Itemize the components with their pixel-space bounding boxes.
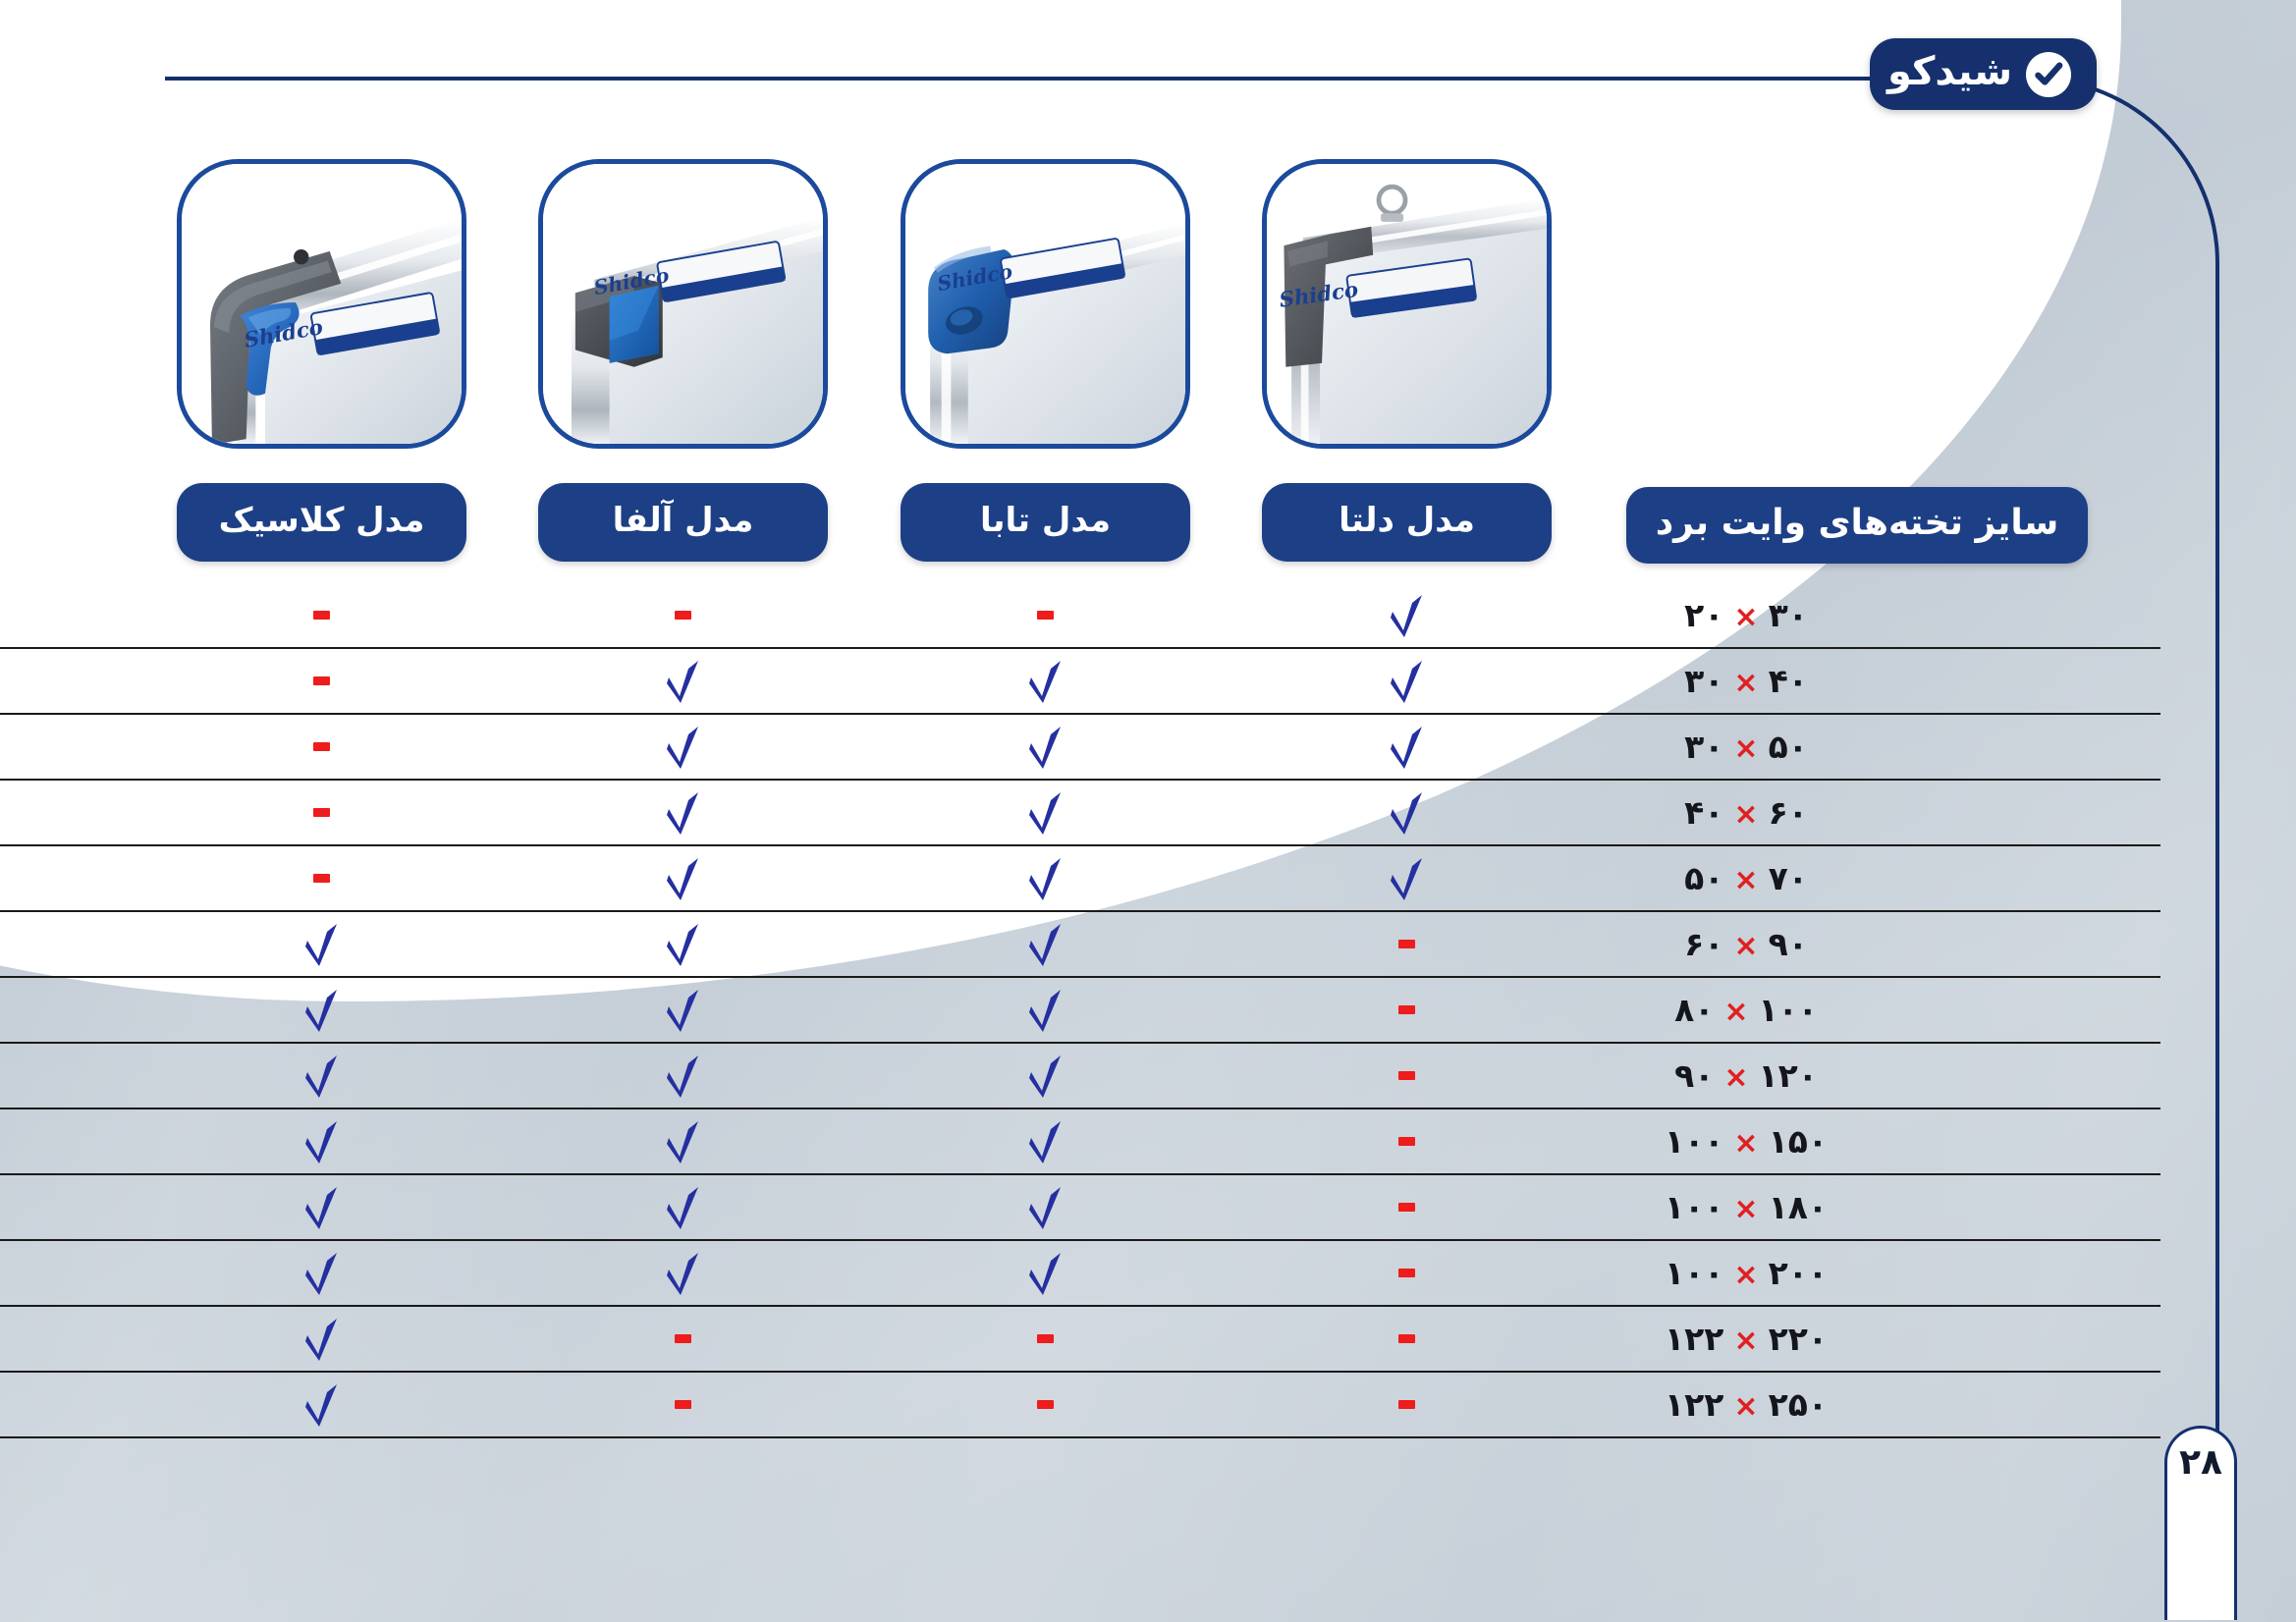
cell-delta-۸۰x۱۰۰ <box>1262 977 1552 1043</box>
table-row: ۷۰×۵۰ <box>0 846 2160 912</box>
cell-alfa-۱۲۲x۲۲۰ <box>538 1306 828 1372</box>
brand-logo-text: شیدکو <box>1887 52 2012 96</box>
product-thumbnail-delta[interactable]: Shidco <box>1262 159 1552 449</box>
cell-taba-۱۰۰x۱۵۰ <box>901 1108 1190 1174</box>
cell-size: ۲۲۰×۱۲۲ <box>1540 1320 1952 1358</box>
cell-alfa-۶۰x۹۰ <box>538 911 828 977</box>
comparison-table: ۳۰×۲۰۴۰×۳۰۵۰×۳۰۶۰×۴۰۷۰×۵۰۹۰×۶۰۱۰۰×۸۰۱۲۰×… <box>0 583 2160 1438</box>
cell-size: ۹۰×۶۰ <box>1540 925 1952 963</box>
table-row: ۴۰×۳۰ <box>0 649 2160 715</box>
cell-taba-۱۰۰x۲۰۰ <box>901 1240 1190 1306</box>
cell-size: ۲۰۰×۱۰۰ <box>1540 1254 1952 1292</box>
cell-alfa-۱۰۰x۱۸۰ <box>538 1174 828 1240</box>
table-row: ۱۵۰×۱۰۰ <box>0 1109 2160 1175</box>
cell-size: ۱۸۰×۱۰۰ <box>1540 1188 1952 1226</box>
model-label-alfa-text: مدل آلفا <box>613 504 754 541</box>
size-column-header-text: سایز تخته‌های وایت برد <box>1656 506 2059 545</box>
cell-classic-۱۰۰x۲۰۰ <box>177 1240 466 1306</box>
cell-classic-۱۲۲x۲۲۰ <box>177 1306 466 1372</box>
cell-taba-۴۰x۶۰ <box>901 780 1190 845</box>
product-thumbnail-taba[interactable]: Shidco <box>901 159 1190 449</box>
table-row: ۳۰×۲۰ <box>0 583 2160 649</box>
cell-classic-۱۰۰x۱۵۰ <box>177 1108 466 1174</box>
cell-classic-۹۰x۱۲۰ <box>177 1043 466 1108</box>
cell-classic-۳۰x۵۰ <box>177 714 466 780</box>
cell-size: ۲۵۰×۱۲۲ <box>1540 1385 1952 1424</box>
table-row: ۲۵۰×۱۲۲ <box>0 1373 2160 1438</box>
cell-size: ۶۰×۴۰ <box>1540 793 1952 832</box>
cell-taba-۹۰x۱۲۰ <box>901 1043 1190 1108</box>
cell-delta-۱۰۰x۱۵۰ <box>1262 1108 1552 1174</box>
cell-size: ۱۰۰×۸۰ <box>1540 991 1952 1029</box>
cell-taba-۱۲۲x۲۲۰ <box>901 1306 1190 1372</box>
cell-alfa-۵۰x۷۰ <box>538 845 828 911</box>
cell-alfa-۳۰x۴۰ <box>538 648 828 714</box>
cell-classic-۱۰۰x۱۸۰ <box>177 1174 466 1240</box>
cell-alfa-۸۰x۱۰۰ <box>538 977 828 1043</box>
cell-taba-۳۰x۴۰ <box>901 648 1190 714</box>
model-label-classic-text: مدل کلاسیک <box>219 504 425 541</box>
header-rule-line <box>165 77 1952 81</box>
size-column-header: سایز تخته‌های وایت برد <box>1626 487 2088 564</box>
cell-delta-۶۰x۹۰ <box>1262 911 1552 977</box>
catalog-page: شیدکو <box>0 0 2296 1622</box>
cell-classic-۶۰x۹۰ <box>177 911 466 977</box>
cell-alfa-۱۰۰x۲۰۰ <box>538 1240 828 1306</box>
cell-size: ۷۰×۵۰ <box>1540 859 1952 897</box>
cell-alfa-۹۰x۱۲۰ <box>538 1043 828 1108</box>
cell-size: ۳۰×۲۰ <box>1540 596 1952 634</box>
cell-size: ۱۵۰×۱۰۰ <box>1540 1122 1952 1161</box>
brand-logo: شیدکو <box>1870 38 2097 110</box>
cell-alfa-۲۰x۳۰ <box>538 582 828 648</box>
cell-taba-۳۰x۵۰ <box>901 714 1190 780</box>
table-row: ۹۰×۶۰ <box>0 912 2160 978</box>
cell-taba-۵۰x۷۰ <box>901 845 1190 911</box>
cell-taba-۸۰x۱۰۰ <box>901 977 1190 1043</box>
cell-delta-۵۰x۷۰ <box>1262 845 1552 911</box>
table-row: ۱۸۰×۱۰۰ <box>0 1175 2160 1241</box>
page-number: ۲۸ <box>2179 1442 2222 1620</box>
cell-delta-۱۰۰x۲۰۰ <box>1262 1240 1552 1306</box>
model-label-classic[interactable]: مدل کلاسیک <box>177 483 466 562</box>
cell-taba-۶۰x۹۰ <box>901 911 1190 977</box>
cell-classic-۲۰x۳۰ <box>177 582 466 648</box>
cell-classic-۵۰x۷۰ <box>177 845 466 911</box>
cell-classic-۱۲۲x۲۵۰ <box>177 1372 466 1437</box>
product-thumbnail-classic[interactable]: Shidco <box>177 159 466 449</box>
cell-taba-۲۰x۳۰ <box>901 582 1190 648</box>
cell-delta-۳۰x۴۰ <box>1262 648 1552 714</box>
table-row: ۲۰۰×۱۰۰ <box>0 1241 2160 1307</box>
cell-alfa-۳۰x۵۰ <box>538 714 828 780</box>
product-thumbnail-alfa[interactable]: Shidco <box>538 159 828 449</box>
cell-classic-۸۰x۱۰۰ <box>177 977 466 1043</box>
cell-alfa-۱۲۲x۲۵۰ <box>538 1372 828 1437</box>
model-label-taba-text: مدل تابا <box>980 504 1111 541</box>
model-label-delta-text: مدل دلتا <box>1339 504 1475 541</box>
cell-delta-۲۰x۳۰ <box>1262 582 1552 648</box>
cell-delta-۱۲۲x۲۲۰ <box>1262 1306 1552 1372</box>
page-number-tab: ۲۸ <box>2164 1426 2237 1620</box>
cell-delta-۱۰۰x۱۸۰ <box>1262 1174 1552 1240</box>
model-label-alfa[interactable]: مدل آلفا <box>538 483 828 562</box>
product-thumbnail-row: Shidco <box>177 159 1552 463</box>
cell-taba-۱۲۲x۲۵۰ <box>901 1372 1190 1437</box>
cell-size: ۱۲۰×۹۰ <box>1540 1056 1952 1095</box>
cell-size: ۵۰×۳۰ <box>1540 728 1952 766</box>
table-row: ۱۲۰×۹۰ <box>0 1044 2160 1109</box>
cell-alfa-۴۰x۶۰ <box>538 780 828 845</box>
cell-size: ۴۰×۳۰ <box>1540 662 1952 700</box>
cell-delta-۹۰x۱۲۰ <box>1262 1043 1552 1108</box>
cell-classic-۴۰x۶۰ <box>177 780 466 845</box>
checkmark-circle-icon <box>2026 52 2071 97</box>
model-label-taba[interactable]: مدل تابا <box>901 483 1190 562</box>
cell-delta-۱۲۲x۲۵۰ <box>1262 1372 1552 1437</box>
cell-delta-۴۰x۶۰ <box>1262 780 1552 845</box>
cell-delta-۳۰x۵۰ <box>1262 714 1552 780</box>
table-row: ۶۰×۴۰ <box>0 781 2160 846</box>
cell-classic-۳۰x۴۰ <box>177 648 466 714</box>
table-row: ۱۰۰×۸۰ <box>0 978 2160 1044</box>
cell-alfa-۱۰۰x۱۵۰ <box>538 1108 828 1174</box>
model-label-row: مدل دلتا مدل تابا مدل آلفا مدل کلاسیک <box>177 483 1552 564</box>
model-label-delta[interactable]: مدل دلتا <box>1262 483 1552 562</box>
right-edge-rule <box>2215 295 2219 1438</box>
table-row: ۲۲۰×۱۲۲ <box>0 1307 2160 1373</box>
table-row: ۵۰×۳۰ <box>0 715 2160 781</box>
cell-taba-۱۰۰x۱۸۰ <box>901 1174 1190 1240</box>
